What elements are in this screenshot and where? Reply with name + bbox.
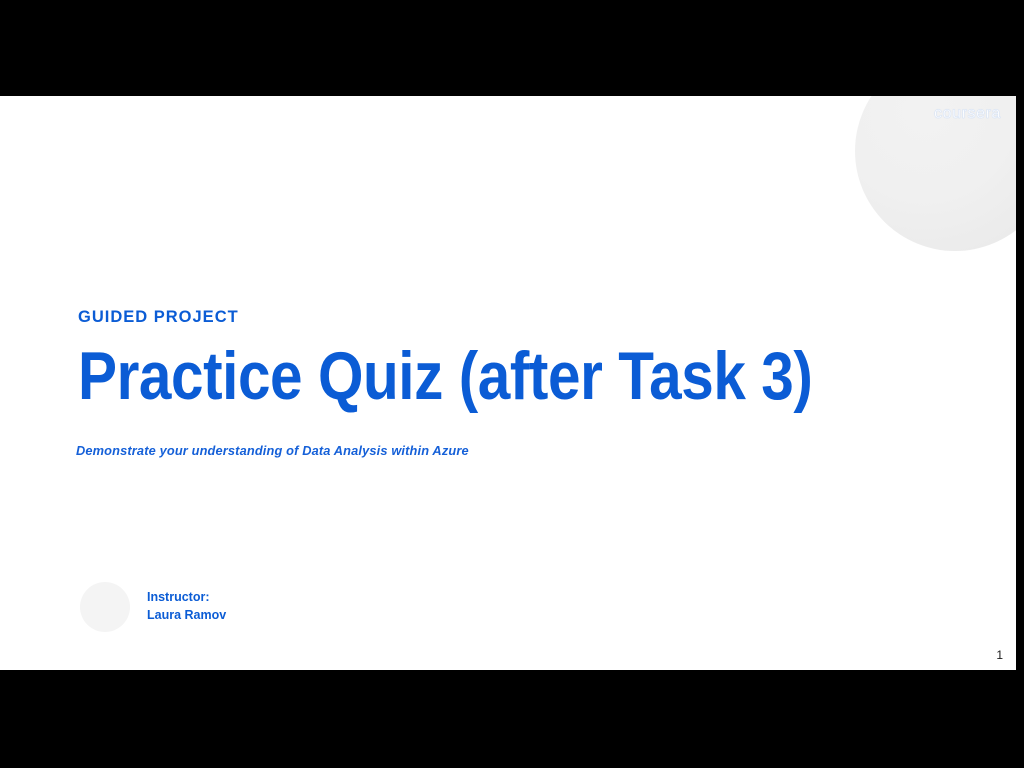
slide-subtitle: Demonstrate your understanding of Data A… — [76, 443, 469, 458]
instructor-avatar — [80, 582, 130, 632]
letterbox-right-bar — [1016, 0, 1024, 768]
slide-page-number: 1 — [996, 648, 1003, 662]
instructor-block: Instructor: Laura Ramov — [80, 582, 226, 632]
slide-eyebrow-label: GUIDED PROJECT — [78, 308, 239, 327]
slide-viewer: coursera GUIDED PROJECT Practice Quiz (a… — [0, 0, 1024, 768]
instructor-name: Laura Ramov — [147, 607, 226, 625]
presentation-slide: coursera GUIDED PROJECT Practice Quiz (a… — [0, 96, 1016, 670]
slide-title: Practice Quiz (after Task 3) — [78, 342, 812, 410]
letterbox-top-bar — [0, 0, 1024, 96]
letterbox-bottom-bar — [0, 670, 1024, 768]
coursera-logo: coursera — [934, 105, 1001, 123]
instructor-label: Instructor: — [147, 589, 226, 607]
instructor-text: Instructor: Laura Ramov — [147, 589, 226, 625]
